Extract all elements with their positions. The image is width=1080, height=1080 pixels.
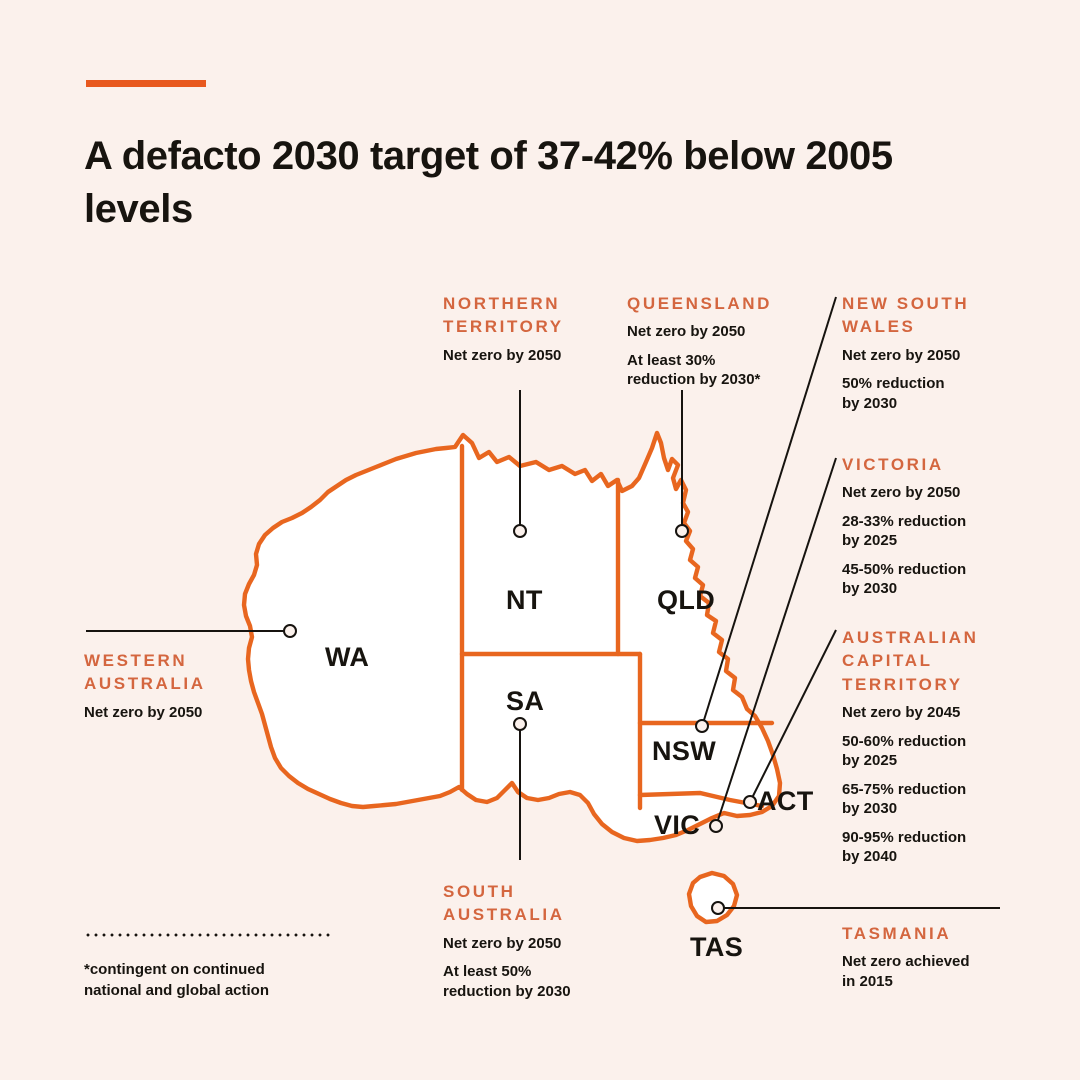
state-abbr-act: ACT <box>757 786 814 817</box>
leader-line-act <box>753 630 836 796</box>
leader-dot-sa <box>514 718 526 730</box>
state-abbr-nsw: NSW <box>652 736 716 767</box>
leader-dot-nt <box>514 525 526 537</box>
mainland-shape <box>244 433 780 841</box>
annotation-tasmania: Tasmania Net zero achieved in 2015 <box>842 922 1012 991</box>
annotation-line-wa-0: Net zero by 2050 <box>84 703 284 723</box>
tasmania-shape <box>689 873 737 922</box>
state-abbr-vic: VIC <box>654 810 700 841</box>
annotation-line-vic-1: 28-33% reduction by 2025 <box>842 512 1007 551</box>
annotation-northern-territory: Northern Territory Net zero by 2050 <box>443 292 618 365</box>
annotation-south-australia: South Australia Net zero by 2050 At leas… <box>443 880 623 1001</box>
footnote: *contingent on continued national and gl… <box>84 960 384 1001</box>
annotation-title-tasmania: Tasmania <box>842 922 1012 945</box>
leader-dot-nsw <box>696 720 708 732</box>
state-abbr-wa: WA <box>325 642 369 673</box>
state-abbr-tas: TAS <box>690 932 743 963</box>
annotation-line-act-1: 50-60% reduction by 2025 <box>842 732 1012 771</box>
leader-dot-wa <box>284 625 296 637</box>
dotted-divider <box>84 933 330 937</box>
annotation-line-tas-0: Net zero achieved in 2015 <box>842 952 1012 991</box>
leader-line-vic <box>718 458 836 820</box>
annotation-new-south-wales: New South Wales Net zero by 2050 50% red… <box>842 292 1007 413</box>
annotation-title-victoria: Victoria <box>842 453 1007 476</box>
annotation-line-act-3: 90-95% reduction by 2040 <box>842 828 1012 867</box>
page-title: A defacto 2030 target of 37-42% below 20… <box>84 130 964 236</box>
annotation-western-australia: Western Australia Net zero by 2050 <box>84 649 284 722</box>
annotation-victoria: Victoria Net zero by 2050 28-33% reducti… <box>842 453 1007 599</box>
annotation-line-nt-0: Net zero by 2050 <box>443 346 618 366</box>
annotation-australian-capital-territory: Australian Capital Territory Net zero by… <box>842 626 1012 867</box>
annotation-queensland: Queensland Net zero by 2050 At least 30%… <box>627 292 817 390</box>
annotation-line-qld-1: At least 30% reduction by 2030* <box>627 351 817 390</box>
annotation-title-new-south-wales: New South Wales <box>842 292 1007 339</box>
leader-dot-qld <box>676 525 688 537</box>
annotation-line-qld-0: Net zero by 2050 <box>627 322 817 342</box>
leader-dot-act <box>744 796 756 808</box>
annotation-title-australian-capital-territory: Australian Capital Territory <box>842 626 1012 696</box>
annotation-line-sa-0: Net zero by 2050 <box>443 934 623 954</box>
leader-dot-tas <box>712 902 724 914</box>
border-nsw-vic <box>640 793 762 806</box>
accent-rule <box>86 80 206 87</box>
annotation-line-vic-0: Net zero by 2050 <box>842 483 1007 503</box>
state-abbr-qld: QLD <box>657 585 715 616</box>
annotation-line-act-0: Net zero by 2045 <box>842 703 1012 723</box>
leader-dot-vic <box>710 820 722 832</box>
annotation-line-nsw-0: Net zero by 2050 <box>842 346 1007 366</box>
annotation-title-south-australia: South Australia <box>443 880 623 927</box>
annotation-line-vic-2: 45-50% reduction by 2030 <box>842 560 1007 599</box>
state-abbr-nt: NT <box>506 585 543 616</box>
state-abbr-sa: SA <box>506 686 544 717</box>
annotation-line-nsw-1: 50% reduction by 2030 <box>842 374 1007 413</box>
annotation-title-western-australia: Western Australia <box>84 649 284 696</box>
annotation-line-act-2: 65-75% reduction by 2030 <box>842 780 1012 819</box>
annotation-title-northern-territory: Northern Territory <box>443 292 618 339</box>
annotation-line-sa-1: At least 50% reduction by 2030 <box>443 962 623 1001</box>
annotation-title-queensland: Queensland <box>627 292 817 315</box>
